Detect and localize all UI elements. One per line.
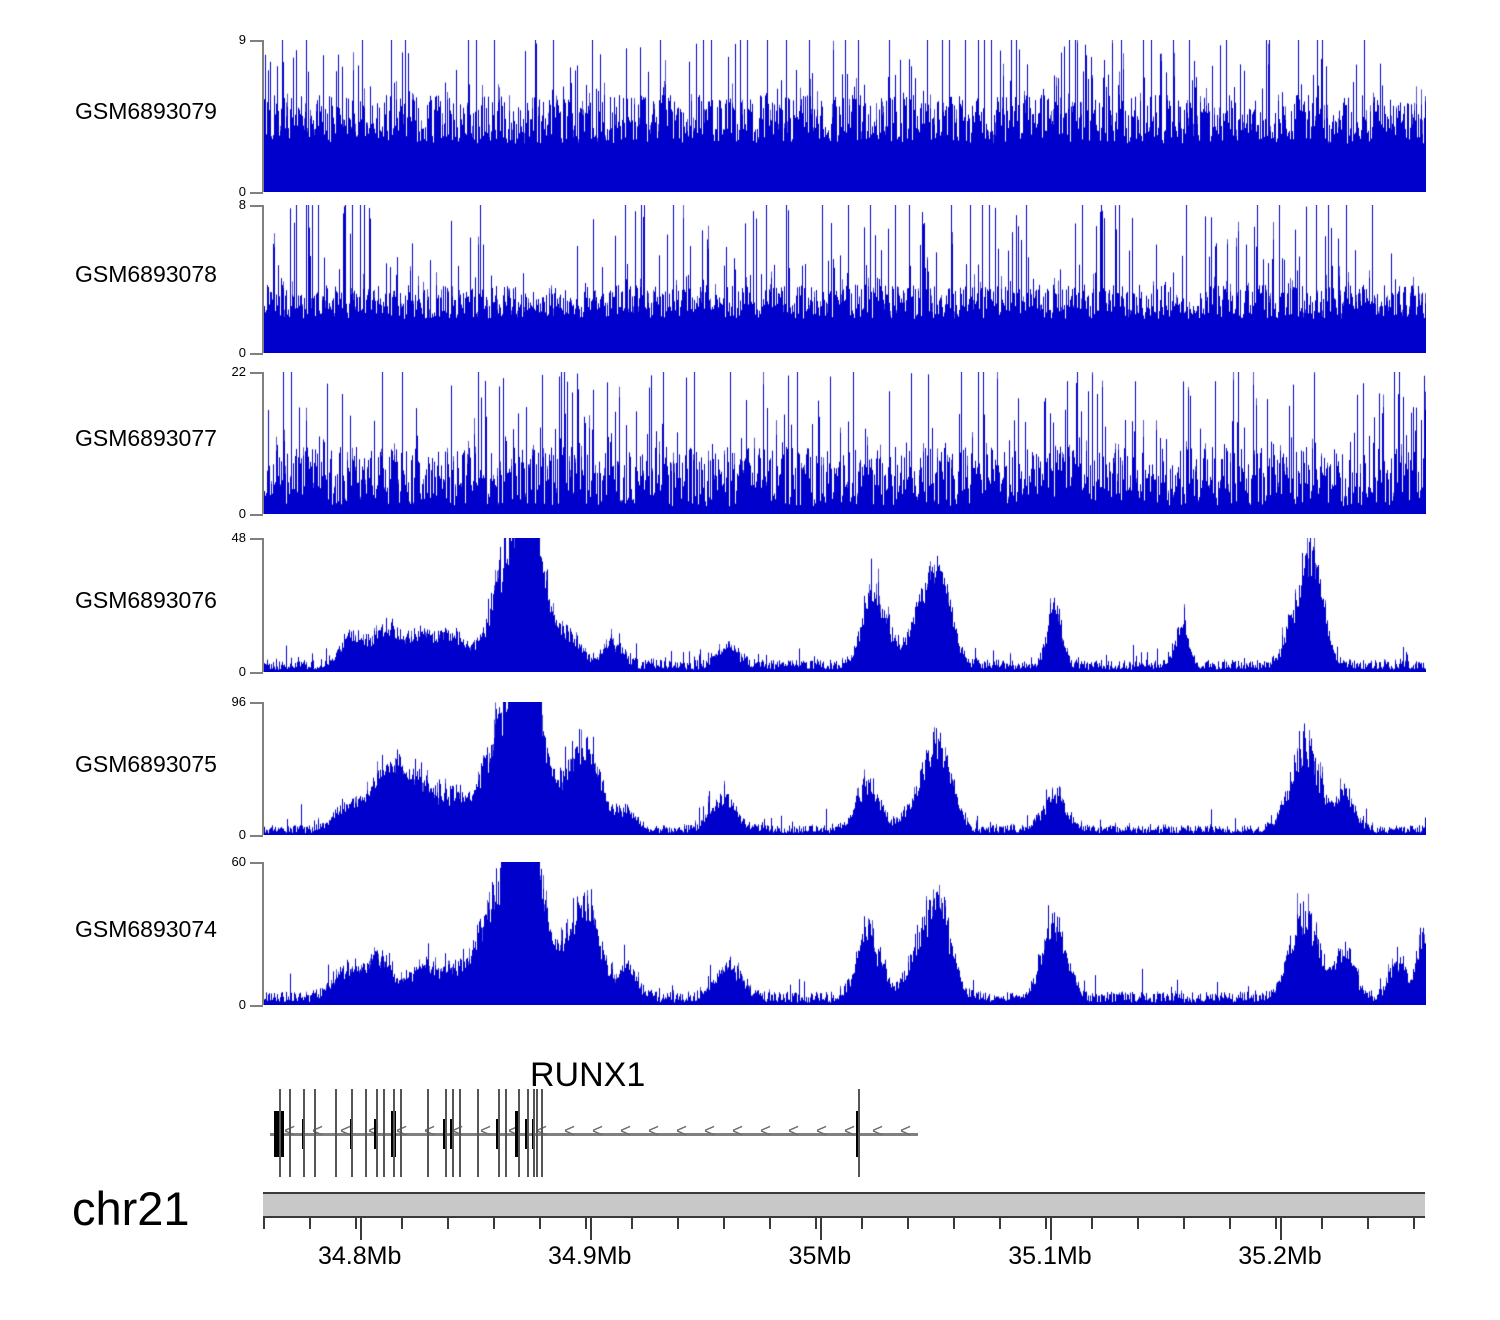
- ruler-tick-minor: [1045, 1218, 1047, 1229]
- y-axis-tick-min: [250, 1005, 263, 1007]
- coverage-plot[interactable]: [264, 538, 1426, 672]
- ruler-tick-minor: [493, 1218, 495, 1229]
- ruler-tick-minor: [769, 1218, 771, 1229]
- exon-boundary-line: [477, 1089, 479, 1177]
- exon-boundary-line: [541, 1089, 543, 1177]
- exon-boundary-line: [536, 1089, 538, 1177]
- ruler-tick-major: [1280, 1218, 1282, 1240]
- ruler-label: 35.2Mb: [1238, 1242, 1321, 1271]
- ruler-tick-minor: [1229, 1218, 1231, 1229]
- ruler-tick-minor: [1091, 1218, 1093, 1229]
- exon-boundary-line: [365, 1089, 367, 1177]
- exon-boundary-line: [279, 1089, 281, 1177]
- y-axis-min-label: 0: [194, 664, 246, 679]
- y-axis-tick-max: [250, 702, 263, 704]
- strand-arrow-icon: <: [872, 1122, 883, 1141]
- track-label: GSM6893078: [75, 261, 235, 288]
- strand-arrow-icon: <: [760, 1122, 771, 1141]
- y-axis-max-label: 8: [194, 197, 246, 212]
- strand-arrow-icon: <: [844, 1122, 855, 1141]
- track-gsm6893078[interactable]: GSM689307880: [0, 183, 1500, 365]
- exon-boundary-line: [498, 1089, 500, 1177]
- exon-boundary-line: [445, 1089, 447, 1177]
- strand-arrow-icon: <: [564, 1122, 575, 1141]
- track-label: GSM6893075: [75, 751, 235, 778]
- exon-boundary-line: [518, 1089, 520, 1177]
- gene-track[interactable]: RUNX1<<<<<<<<<<<<<<<<<<<<<<<: [0, 1055, 1500, 1175]
- exon-boundary-line: [351, 1089, 353, 1177]
- exon-boundary-line: [393, 1089, 395, 1177]
- track-label: GSM6893077: [75, 425, 235, 452]
- chromosome-ruler[interactable]: chr2134.8Mb34.9Mb35Mb35.1Mb35.2Mb: [0, 1175, 1500, 1320]
- exon-boundary-line: [505, 1089, 507, 1177]
- ruler-tick-minor: [953, 1218, 955, 1229]
- ruler-tick-minor: [401, 1218, 403, 1229]
- ruler-tick-minor: [631, 1218, 633, 1229]
- ruler-tick-minor: [539, 1218, 541, 1229]
- ruler-label: 35Mb: [789, 1242, 852, 1271]
- strand-arrow-icon: <: [900, 1122, 911, 1141]
- y-axis-tick-min: [250, 672, 263, 674]
- strand-arrow-icon: <: [620, 1122, 631, 1141]
- exon-boundary-line: [400, 1089, 402, 1177]
- strand-arrow-icon: <: [816, 1122, 827, 1141]
- strand-arrow-icon: <: [648, 1122, 659, 1141]
- exon-boundary-line: [314, 1089, 316, 1177]
- ruler-tick-minor: [723, 1218, 725, 1229]
- exon-boundary-line: [289, 1089, 291, 1177]
- y-axis-max-label: 96: [194, 694, 246, 709]
- track-gsm6893075[interactable]: GSM6893075960: [0, 680, 1500, 847]
- y-axis-tick-min: [250, 835, 263, 837]
- coverage-plot[interactable]: [264, 40, 1426, 192]
- exon-boundary-line: [452, 1089, 454, 1177]
- ruler-tick-minor: [861, 1218, 863, 1229]
- ruler-label: 34.8Mb: [318, 1242, 401, 1271]
- coverage-plot[interactable]: [264, 372, 1426, 514]
- gene-name-label: RUNX1: [530, 1056, 645, 1095]
- coverage-plot[interactable]: [264, 862, 1426, 1005]
- exon-boundary-line: [427, 1089, 429, 1177]
- ruler-tick-minor: [907, 1218, 909, 1229]
- ruler-tick-minor: [355, 1218, 357, 1229]
- track-gsm6893077[interactable]: GSM6893077220: [0, 350, 1500, 526]
- ideogram-bar[interactable]: [263, 1192, 1425, 1218]
- ruler-tick-major: [820, 1218, 822, 1240]
- y-axis-max-label: 48: [194, 530, 246, 545]
- coverage-plot[interactable]: [264, 702, 1426, 835]
- strand-arrow-icon: <: [452, 1122, 463, 1141]
- y-axis-tick-max: [250, 372, 263, 374]
- strand-arrow-icon: <: [788, 1122, 799, 1141]
- ruler-tick-major: [590, 1218, 592, 1240]
- ruler-tick-minor: [1275, 1218, 1277, 1229]
- strand-arrow-icon: <: [676, 1122, 687, 1141]
- ruler-tick-major: [360, 1218, 362, 1240]
- track-gsm6893079[interactable]: GSM689307990: [0, 18, 1500, 204]
- strand-arrow-icon: <: [592, 1122, 603, 1141]
- ruler-tick-minor: [1183, 1218, 1185, 1229]
- exon-boundary-line: [858, 1089, 860, 1177]
- y-axis-tick-max: [250, 538, 263, 540]
- strand-arrow-icon: <: [732, 1122, 743, 1141]
- y-axis-tick-max: [250, 205, 263, 207]
- track-gsm6893076[interactable]: GSM6893076480: [0, 516, 1500, 684]
- ruler-tick-minor: [585, 1218, 587, 1229]
- ruler-tick-minor: [263, 1218, 265, 1229]
- exon-boundary-line: [383, 1089, 385, 1177]
- ruler-tick-minor: [1321, 1218, 1323, 1229]
- chromosome-label: chr21: [72, 1181, 190, 1236]
- ruler-tick-minor: [677, 1218, 679, 1229]
- ruler-tick-minor: [1413, 1218, 1415, 1229]
- ruler-tick-minor: [1367, 1218, 1369, 1229]
- exon-boundary-line: [527, 1089, 529, 1177]
- track-label: GSM6893074: [75, 916, 235, 943]
- genome-browser: GSM689307990GSM689307880GSM6893077220GSM…: [0, 0, 1500, 1320]
- ruler-tick-minor: [1137, 1218, 1139, 1229]
- exon-boundary-line: [335, 1089, 337, 1177]
- ruler-label: 35.1Mb: [1008, 1242, 1091, 1271]
- ruler-tick-minor: [815, 1218, 817, 1229]
- strand-arrow-icon: <: [704, 1122, 715, 1141]
- ruler-tick-minor: [999, 1218, 1001, 1229]
- track-label: GSM6893076: [75, 587, 235, 614]
- y-axis-max-label: 60: [194, 854, 246, 869]
- y-axis-max-label: 9: [194, 32, 246, 47]
- ruler-tick-minor: [309, 1218, 311, 1229]
- ruler-label: 34.9Mb: [548, 1242, 631, 1271]
- ruler-tick-major: [1050, 1218, 1052, 1240]
- strand-arrow-icon: <: [480, 1122, 491, 1141]
- exon-boundary-line: [303, 1089, 305, 1177]
- ruler-tick-minor: [447, 1218, 449, 1229]
- coverage-plot[interactable]: [264, 205, 1426, 353]
- y-axis-min-label: 0: [194, 997, 246, 1012]
- y-axis-tick-max: [250, 40, 263, 42]
- y-axis-tick-max: [250, 862, 263, 864]
- track-gsm6893074[interactable]: GSM6893074600: [0, 840, 1500, 1017]
- track-label: GSM6893079: [75, 98, 235, 125]
- strand-arrow-icon: <: [424, 1122, 435, 1141]
- exon-boundary-line: [459, 1089, 461, 1177]
- y-axis-max-label: 22: [194, 364, 246, 379]
- exon-boundary-line: [376, 1089, 378, 1177]
